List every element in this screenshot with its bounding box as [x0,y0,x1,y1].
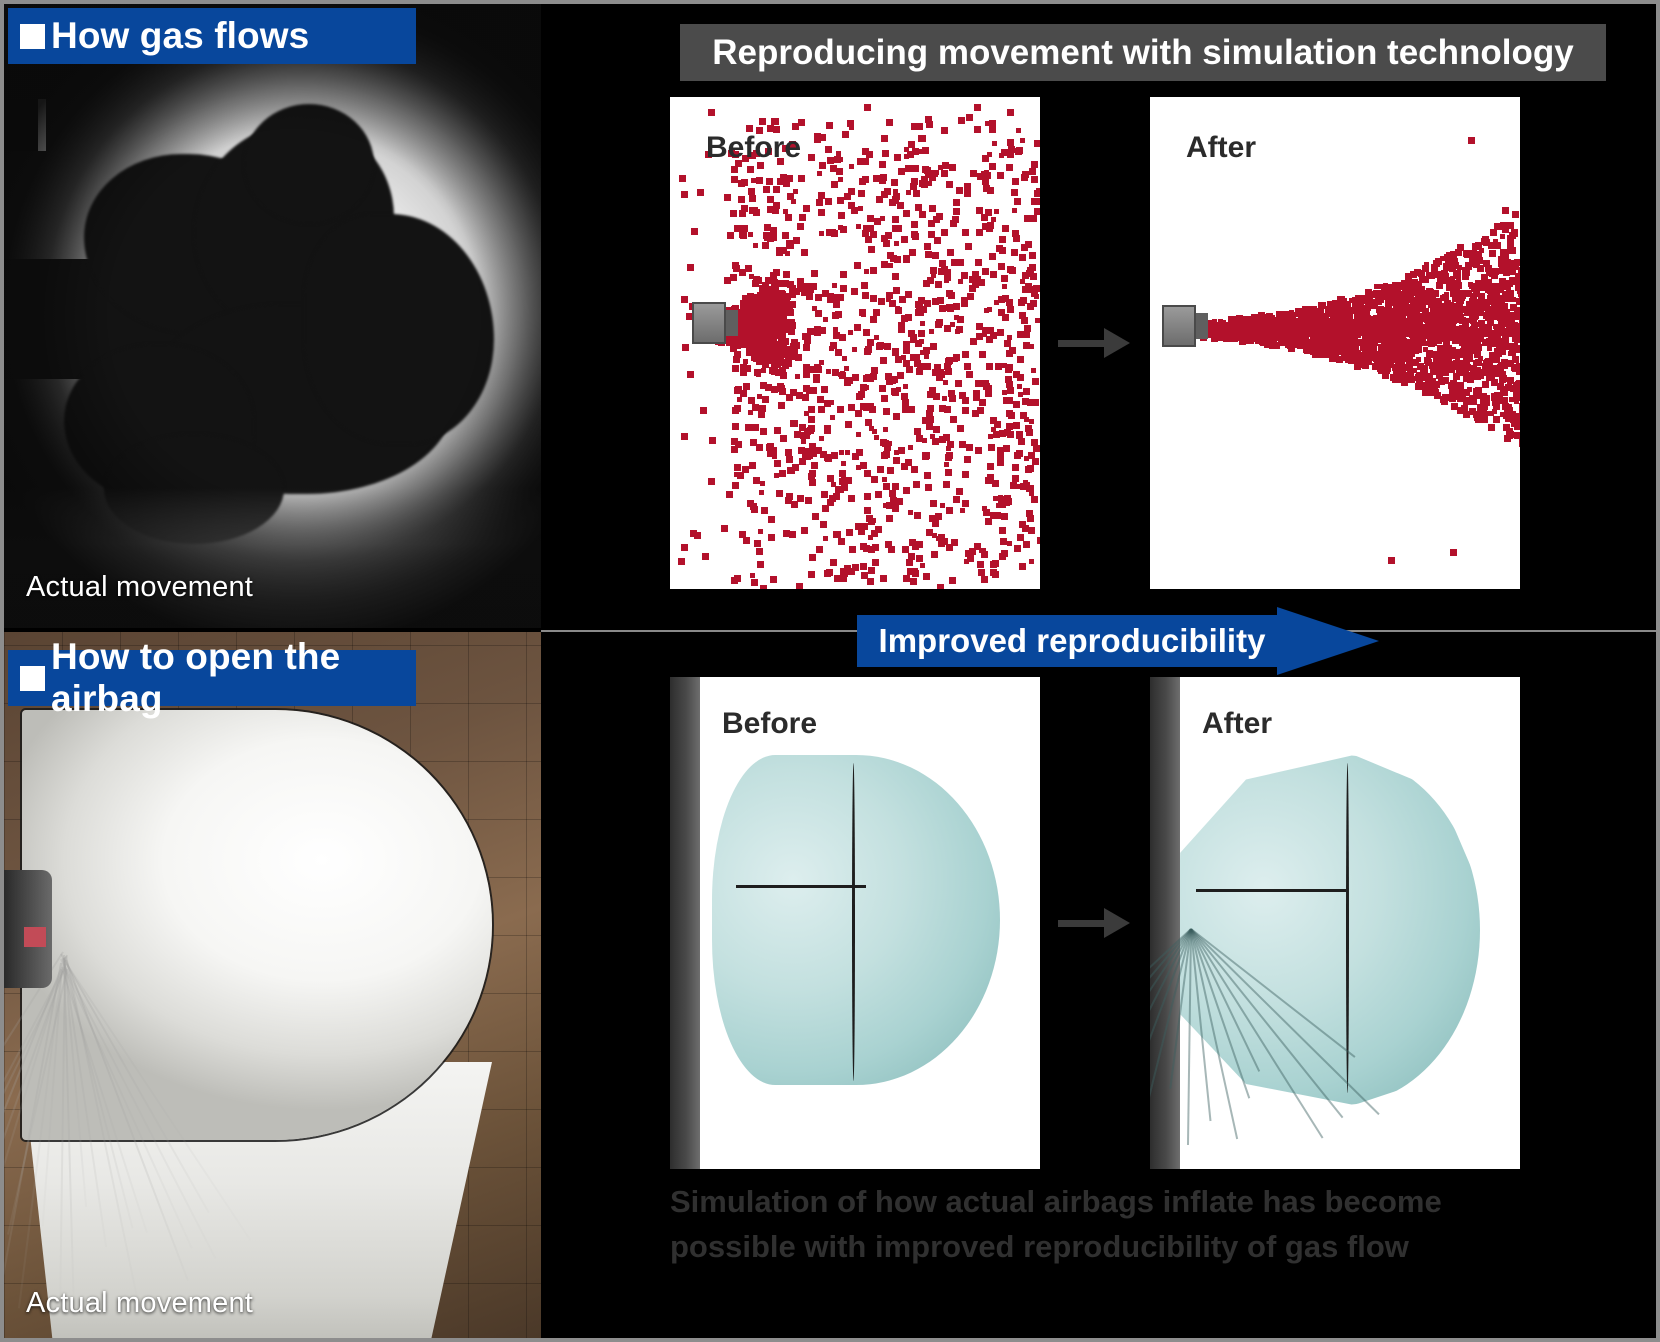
gas-sim-before-panel: Before [670,97,1040,589]
section-label-gas-flow-text: How gas flows [51,15,309,57]
injector-nozzle-icon [1162,305,1208,347]
gas-sim-after-panel: After [1150,97,1520,589]
gas-sim-before-label: Before [706,131,801,165]
sim-mounting-rail [1150,677,1180,1169]
airbag-sim-after-label: After [1202,707,1272,741]
improved-reproducibility-banner: Improved reproducibility [857,607,1379,675]
improved-reproducibility-text: Improved reproducibility [857,615,1287,667]
airbag-red-marker [24,927,46,947]
sim-mounting-rail [670,677,700,1169]
gas-photo-caption: Actual movement [26,571,253,604]
airbag-sim-after-panel: After [1150,677,1520,1169]
filled-square-icon [20,24,45,49]
airbag-seam-line [1196,889,1346,892]
airbag-seam-line [736,885,866,888]
simulation-header-banner: Reproducing movement with simulation tec… [680,24,1606,81]
airbag-photo-caption: Actual movement [26,1287,253,1320]
airbag-mesh-after [1180,755,1480,1105]
right-arrow-icon [1058,328,1130,358]
section-label-gas-flow: How gas flows [8,8,416,64]
airbag-seam-line [852,763,855,1081]
gas-sim-after-label: After [1186,131,1256,165]
airbag-sim-before-label: Before [722,707,817,741]
airbag-sim-before-panel: Before [670,677,1040,1169]
right-arrow-icon [1058,908,1130,938]
gas-flow-actual-photo: Actual movement [4,4,541,628]
airbag-seam-line [1346,763,1349,1093]
bottom-caption-line-2: possible with improved reproducibility o… [670,1225,1550,1270]
photo-vignette [4,4,541,628]
filled-square-icon [20,666,45,691]
bottom-caption: Simulation of how actual airbags inflate… [670,1180,1550,1270]
airbag-mesh-before [712,755,1000,1085]
banner-arrow-head-icon [1277,607,1379,675]
section-label-airbag: How to open the airbag [8,650,416,706]
section-label-airbag-text: How to open the airbag [51,636,402,720]
airbag-actual-photo: Actual movement [4,632,541,1342]
infographic-root: Actual movement Actual movement How gas … [0,0,1660,1342]
bottom-caption-line-1: Simulation of how actual airbags inflate… [670,1180,1550,1225]
injector-nozzle-icon [692,302,738,344]
